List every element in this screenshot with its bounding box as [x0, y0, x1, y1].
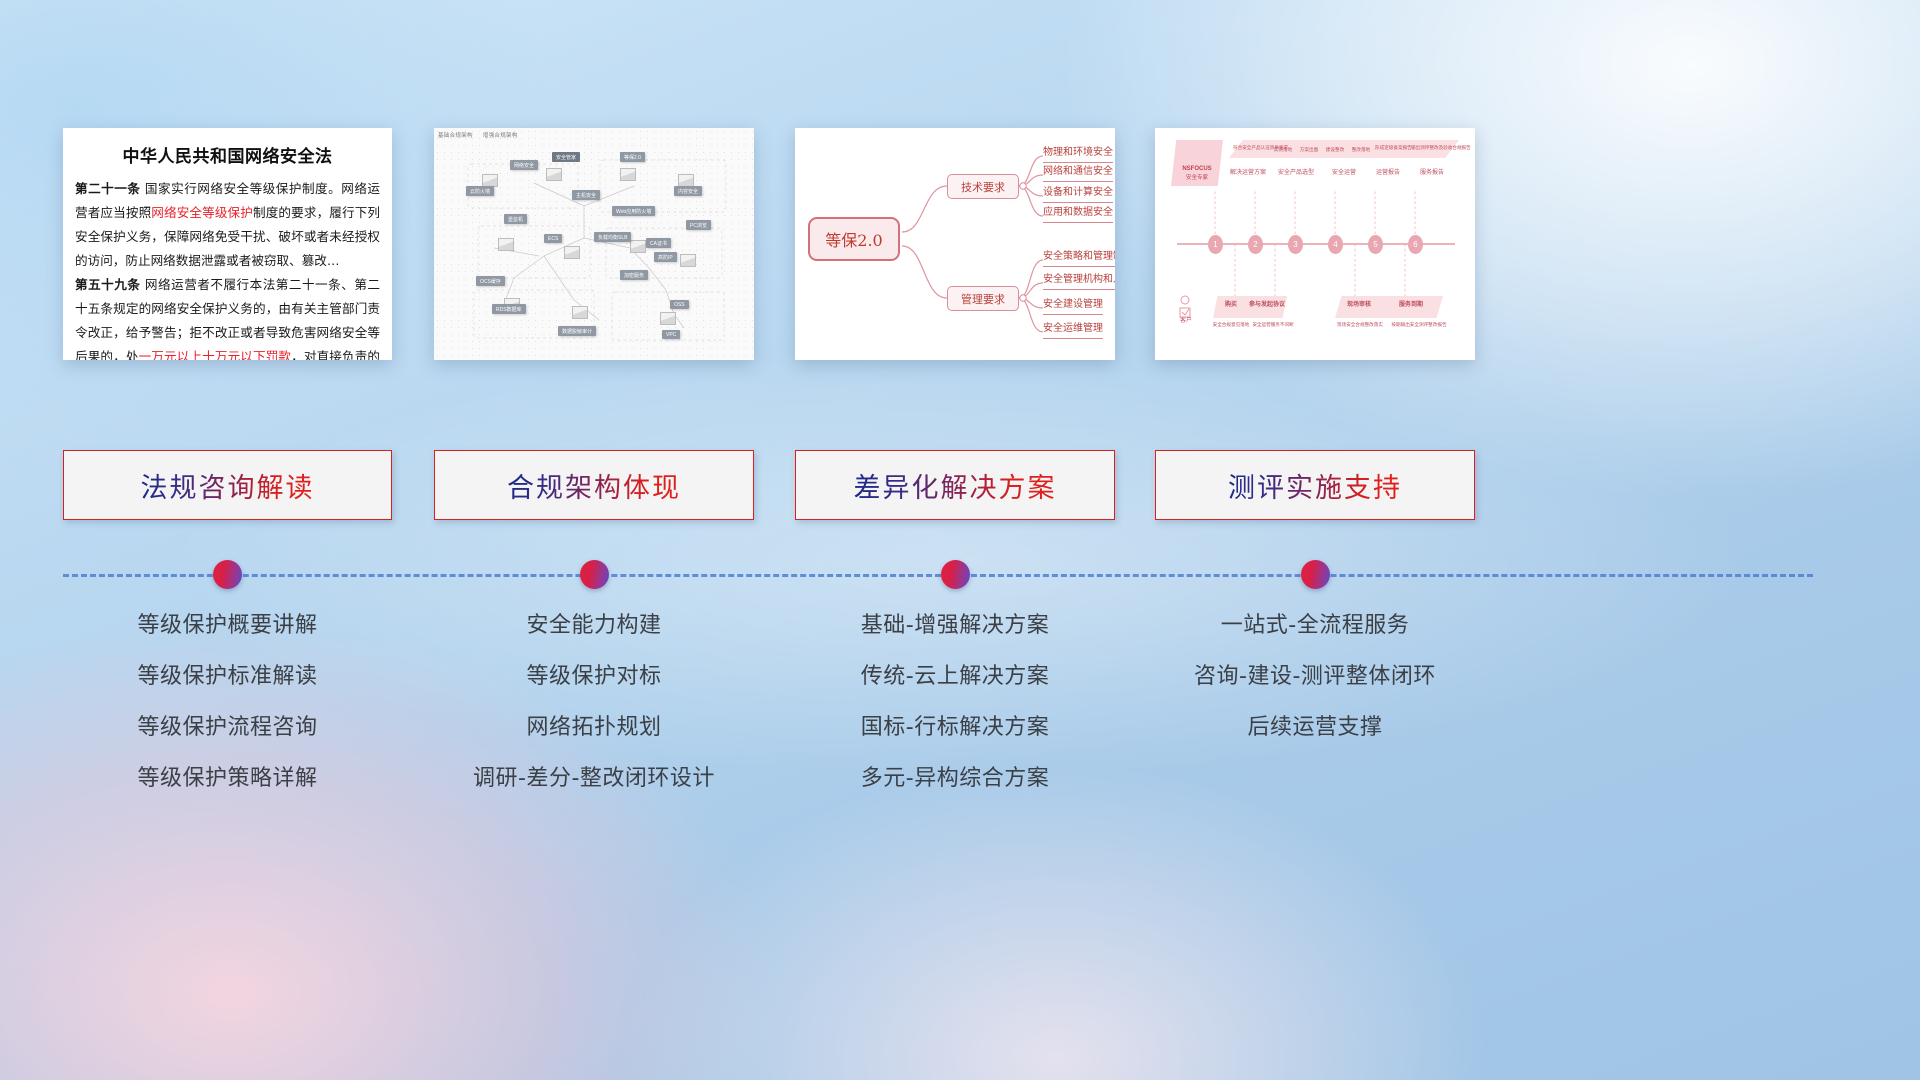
timeline-bottom-tag-1: 参与发起协议: [1249, 302, 1285, 308]
list-item: 等级保护标准解读: [63, 651, 392, 702]
list-item: 咨询-建设-测评整体闭环: [1155, 651, 1475, 702]
timeline-top-tag-3: 建设整改: [1323, 147, 1347, 153]
law-article-59-label: 第五十九条: [75, 277, 140, 292]
list-item: 等级保护概要讲解: [63, 600, 392, 651]
timeline-canvas: NSFOCUS 安全专家 符合安全产品认证资质要求 实测落地 方案出图 建设整改…: [1155, 128, 1475, 360]
list-item: 等级保护策略详解: [63, 753, 392, 804]
architecture-node-label-11: 高防IP: [654, 252, 677, 262]
architecture-node-label-9: ECS: [544, 234, 562, 243]
architecture-canvas: 基础合规架构增强合规架构: [434, 128, 754, 360]
section-title-label: 测评实施支持: [1228, 466, 1402, 505]
timeline-bottom-tag-4: 服务到期: [1391, 302, 1431, 308]
mindmap-leaf-mgmt-3[interactable]: 安全运维管理: [1043, 322, 1103, 339]
law-article-59-run-1: 一万元以上十万元以下罚款: [139, 349, 292, 360]
timeline-top-tag-4: 整改落地: [1349, 147, 1373, 153]
architecture-node-label-6: PC浏览: [686, 220, 711, 230]
timeline-top-tag-6: 输出测评整改及验收合规报告: [1411, 145, 1457, 151]
timeline-bottom-sub-2: 现场安全合规整改落实: [1335, 322, 1385, 328]
mindmap-branch-management[interactable]: 管理要求: [947, 286, 1019, 311]
timeline-bottom-tag-3: 现场审核: [1339, 302, 1379, 308]
law-document-body: 中华人民共和国网络安全法 第二十一条 国家实行网络安全等级保护制度。网络运营者应…: [63, 128, 392, 360]
timeline-top-tag-0: 符合安全产品认证资质要求: [1233, 145, 1267, 151]
timeline-marker-3[interactable]: [1301, 560, 1330, 589]
timeline-bottom-tag-0: 购买: [1217, 302, 1245, 308]
list-item: 后续运营支撑: [1155, 702, 1475, 753]
list-item: 基础-增强解决方案: [795, 600, 1115, 651]
list-item: 等级保护对标: [434, 651, 754, 702]
architecture-node-label-12: OSS: [670, 300, 689, 309]
card-law-document[interactable]: 中华人民共和国网络安全法 第二十一条 国家实行网络安全等级保护制度。网络运营者应…: [63, 128, 392, 360]
card-service-timeline[interactable]: NSFOCUS 安全专家 符合安全产品认证资质要求 实测落地 方案出图 建设整改…: [1155, 128, 1475, 360]
architecture-node-label-3: 云防火墙: [466, 186, 494, 196]
section-title-differentiated-solution[interactable]: 差异化解决方案: [795, 450, 1115, 520]
timeline-top-tag-5: 形成定级备案报告: [1375, 145, 1409, 151]
timeline-top-tag-2: 方案出图: [1297, 147, 1321, 153]
timeline-phase-label-1: 安全产品选型: [1275, 170, 1317, 176]
architecture-node-label-5: 主机安全: [572, 190, 600, 200]
list-item: 一站式-全流程服务: [1155, 600, 1475, 651]
list-item: 传统-云上解决方案: [795, 651, 1115, 702]
architecture-node-icon-6: [630, 240, 646, 253]
section-title-row: 法规咨询解读 合规架构体现 差异化解决方案 测评实施支持: [0, 450, 1920, 520]
law-article-21-label: 第二十一条: [75, 181, 140, 196]
architecture-node-label-18: 加密服务: [620, 270, 648, 280]
timeline-bottom-sub-1: 安全运营服务不间断: [1251, 322, 1295, 328]
timeline-bottom-sub-3: 按期输出安全测评整改报告: [1391, 322, 1447, 328]
list-item: 安全能力构建: [434, 600, 754, 651]
section-items-row: 等级保护概要讲解 等级保护标准解读 等级保护流程咨询 等级保护策略详解 安全能力…: [0, 600, 1920, 840]
timeline-phase-label-4: 服务报告: [1411, 170, 1453, 176]
preview-cards-row: 中华人民共和国网络安全法 第二十一条 国家实行网络安全等级保护制度。网络运营者应…: [0, 128, 1920, 360]
section-title-label: 差异化解决方案: [854, 466, 1057, 505]
list-item: 国标-行标解决方案: [795, 702, 1115, 753]
timeline-axis: [0, 560, 1920, 590]
architecture-node-icon-9: [572, 306, 588, 319]
timeline-phase-label-2: 安全运营: [1323, 170, 1365, 176]
architecture-node-icon-10: [660, 312, 676, 325]
timeline-marker-2[interactable]: [941, 560, 970, 589]
timeline-phase-label-3: 运营报告: [1367, 170, 1409, 176]
architecture-node-label-17: 堡垒机: [504, 214, 527, 224]
architecture-node-label-13: VPC: [662, 330, 680, 339]
architecture-node-icon-4: [498, 238, 514, 251]
section-title-evaluation-support[interactable]: 测评实施支持: [1155, 450, 1475, 520]
list-item: 多元-异构综合方案: [795, 753, 1115, 804]
architecture-node-label-16: 数据脱敏审计: [558, 326, 596, 336]
timeline-step-2[interactable]: 3: [1288, 235, 1303, 254]
architecture-node-label-8: 负载均衡SLB: [594, 232, 631, 242]
timeline-dashed-line: [63, 574, 1813, 577]
section-title-law-consult[interactable]: 法规咨询解读: [63, 450, 392, 520]
law-article-21: 第二十一条 国家实行网络安全等级保护制度。网络运营者应当按照网络安全等级保护制度…: [75, 177, 380, 273]
section-items-law-consult: 等级保护概要讲解 等级保护标准解读 等级保护流程咨询 等级保护策略详解: [63, 600, 392, 804]
law-document-title: 中华人民共和国网络安全法: [75, 142, 380, 167]
mindmap-leaf-tech-3[interactable]: 应用和数据安全: [1043, 206, 1113, 223]
timeline-step-5[interactable]: 6: [1408, 235, 1423, 254]
architecture-node-icon-7: [680, 254, 696, 267]
architecture-node-label-7: Web应用防火墙: [612, 206, 655, 216]
timeline-step-4[interactable]: 5: [1368, 235, 1383, 254]
architecture-node-label-0: 安全管家: [552, 152, 580, 162]
timeline-step-0[interactable]: 1: [1208, 235, 1223, 254]
timeline-bottom-tag-2: 客户: [1171, 318, 1201, 324]
architecture-node-label-2: 等保2.0: [620, 152, 645, 162]
list-item: 等级保护流程咨询: [63, 702, 392, 753]
timeline-marker-1[interactable]: [580, 560, 609, 589]
card-mindmap[interactable]: 等保2.0 技术要求 管理要求 物理和环境安全 网络和通信安全 设备和计算安全 …: [795, 128, 1115, 360]
law-article-59: 第五十九条 网络运营者不履行本法第二十一条、第二十五条规定的网络安全保护义务的，…: [75, 273, 380, 360]
timeline-marker-0[interactable]: [213, 560, 242, 589]
architecture-node-icon-2: [620, 168, 636, 181]
mindmap-leaf-tech-1[interactable]: 网络和通信安全: [1043, 165, 1113, 182]
mindmap-leaf-mgmt-2[interactable]: 安全建设管理: [1043, 298, 1103, 315]
section-items-evaluation-support: 一站式-全流程服务 咨询-建设-测评整体闭环 后续运营支撑: [1155, 600, 1475, 753]
mindmap-leaf-tech-0[interactable]: 物理和环境安全: [1043, 146, 1113, 163]
section-items-differentiated-solution: 基础-增强解决方案 传统-云上解决方案 国标-行标解决方案 多元-异构综合方案: [795, 600, 1115, 804]
section-title-label: 合规架构体现: [507, 466, 681, 505]
mindmap-canvas: 等保2.0 技术要求 管理要求 物理和环境安全 网络和通信安全 设备和计算安全 …: [795, 128, 1115, 360]
section-items-compliance-arch: 安全能力构建 等级保护对标 网络拓扑规划 调研-差分-整改闭环设计: [434, 600, 754, 804]
section-title-compliance-arch[interactable]: 合规架构体现: [434, 450, 754, 520]
architecture-node-label-1: 网络安全: [510, 160, 538, 170]
architecture-node-icon-1: [546, 168, 562, 181]
timeline-brand-name: NSFOCUS: [1171, 166, 1223, 172]
section-title-label: 法规咨询解读: [141, 466, 315, 505]
architecture-node-label-14: OCS缓存: [476, 276, 505, 286]
architecture-node-label-15: RDS数据库: [492, 304, 526, 314]
card-architecture-diagram[interactable]: 基础合规架构增强合规架构: [434, 128, 754, 360]
timeline-top-tag-1: 实测落地: [1271, 147, 1295, 153]
mindmap-leaf-mgmt-0[interactable]: 安全策略和管理制度: [1043, 250, 1115, 267]
timeline-step-3[interactable]: 4: [1328, 235, 1343, 254]
timeline-bottom-sub-0: 安全合规意见落地: [1209, 322, 1253, 328]
mindmap-root-node[interactable]: 等保2.0: [808, 217, 900, 261]
architecture-node-icon-5: [564, 246, 580, 259]
architecture-node-label-10: CA证书: [646, 238, 671, 248]
law-article-21-run-1: 网络安全等级保护: [151, 205, 253, 220]
list-item: 网络拓扑规划: [434, 702, 754, 753]
list-item: 调研-差分-整改闭环设计: [434, 753, 754, 804]
timeline-step-1[interactable]: 2: [1248, 235, 1263, 254]
mindmap-leaf-tech-2[interactable]: 设备和计算安全: [1043, 186, 1113, 203]
mindmap-branch-technical[interactable]: 技术要求: [947, 174, 1019, 199]
timeline-brand-sub: 安全专家: [1171, 175, 1223, 181]
architecture-node-label-4: 内容安全: [674, 186, 702, 196]
mindmap-leaf-mgmt-1[interactable]: 安全管理机构和人员: [1043, 273, 1115, 290]
timeline-phase-label-0: 解决运营方案: [1227, 170, 1269, 176]
